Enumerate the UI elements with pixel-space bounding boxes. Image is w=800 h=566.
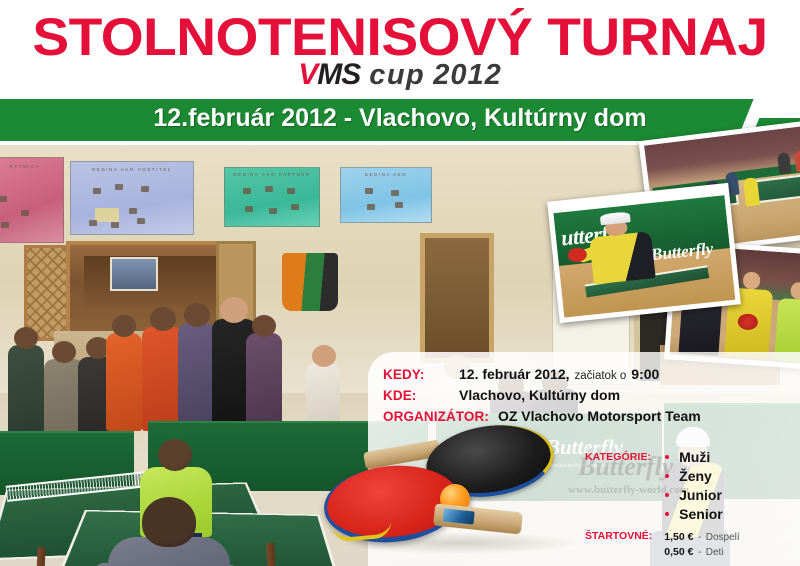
event-info-block: KEDY: 12. február 2012, začiatok o 9:00 …: [383, 366, 701, 429]
value-organizator: OZ Vlachovo Motorsport Team: [498, 408, 701, 424]
list-item: Senior: [665, 506, 723, 522]
fee-line-children: 0,50 € - Deti: [664, 544, 739, 559]
doorway: [420, 233, 494, 363]
person-background: [8, 345, 44, 441]
fee-amount: 0,50 €: [664, 546, 693, 558]
list-item: Muži: [665, 449, 723, 465]
info-row-organizator: ORGANIZÁTOR: OZ Vlachovo Motorsport Team: [383, 408, 701, 424]
label-startovne: ŠTARTOVNÉ:: [585, 529, 652, 542]
value-kedy-start-word: začiatok o: [575, 370, 627, 382]
wall-poster-blue-label: DEDINA AKO HOSTITEĽ: [71, 167, 193, 172]
list-item: Ženy: [665, 468, 723, 484]
inset-photo-player-serving: utterfly Butterfly: [547, 183, 741, 323]
wall-poster-teal: DEDINA AKO PARTNER: [224, 167, 320, 227]
label-organizator: ORGANIZÁTOR:: [383, 409, 489, 424]
player-green-shirt-head: [158, 439, 192, 471]
person-head: [252, 315, 276, 337]
person-head: [14, 327, 38, 349]
logo-year: 2012: [433, 59, 502, 91]
label-kedy: KEDY:: [383, 367, 459, 382]
wall-poster-pink-label: RYTMICA: [0, 164, 63, 169]
category-label: Ženy: [679, 468, 712, 484]
fees-block: ŠTARTOVNÉ: 1,50 € - Dospelí 0,50 € - Det…: [585, 529, 740, 559]
fee-audience: Dospelí: [706, 532, 740, 543]
wall-poster-teal-label: DEDINA AKO PARTNER: [225, 172, 319, 177]
categories-block: KATEGÓRIE: Muži Ženy Junior Senior: [585, 449, 723, 525]
page-title: STOLNOTENISOVÝ TURNAJ: [0, 11, 800, 64]
wall-poster-cyan: DEDINA AKO: [340, 167, 432, 223]
poster-root: STOLNOTENISOVÝ TURNAJ VMScup2012 12.febr…: [0, 0, 800, 566]
label-kategorie: KATEGÓRIE:: [585, 449, 651, 463]
value-kde: Vlachovo, Kultúrny dom: [459, 387, 620, 403]
hanging-clothes: [282, 253, 338, 311]
date-banner: 12.február 2012 - Vlachovo, Kultúrny dom: [0, 98, 800, 141]
wall-poster-pink: RYTMICA: [0, 157, 64, 243]
group-person-right: [774, 281, 800, 363]
inset-player-image: utterfly Butterfly: [553, 188, 736, 317]
bullet-icon: [665, 493, 669, 497]
person-background: [178, 323, 216, 435]
vms-cup-logo: VMScup2012: [0, 60, 800, 90]
category-label: Junior: [679, 487, 722, 503]
info-row-kedy: KEDY: 12. február 2012, začiatok o 9:00: [383, 366, 701, 382]
category-label: Muži: [679, 449, 710, 465]
player-body: [589, 231, 655, 284]
person-head: [112, 315, 136, 337]
fees-lines: 1,50 € - Dospelí 0,50 € - Deti: [664, 529, 739, 559]
person-head: [184, 303, 210, 327]
foreground-player-head: [142, 497, 196, 547]
framed-photo: [110, 257, 158, 291]
logo-word-cup: cup: [369, 59, 425, 91]
red-paddle-handle: [433, 503, 523, 534]
person-head: [312, 345, 336, 367]
poster-header: STOLNOTENISOVÝ TURNAJ VMScup2012: [0, 0, 800, 98]
list-item: Junior: [665, 487, 723, 503]
value-kedy-time: 9:00: [631, 366, 659, 382]
value-kedy-date: 12. február 2012,: [459, 366, 570, 382]
person-head: [790, 281, 800, 300]
label-kde: KDE:: [383, 388, 459, 403]
logo-letter-v: V: [298, 58, 317, 91]
logo-letters-ms: MS: [317, 58, 360, 91]
person-background: [106, 333, 142, 431]
person-head: [150, 307, 176, 331]
info-row-kde: KDE: Vlachovo, Kultúrny dom: [383, 387, 701, 403]
wall-poster-blue: DEDINA AKO HOSTITEĽ: [70, 161, 194, 235]
person-head: [742, 271, 760, 289]
category-label: Senior: [679, 506, 723, 522]
gym-person: [777, 152, 791, 175]
bullet-icon: [665, 512, 669, 516]
wall-poster-cyan-label: DEDINA AKO: [341, 172, 431, 177]
lattice-panel: [24, 245, 70, 341]
bullet-icon: [665, 455, 669, 459]
fee-dash: -: [698, 547, 701, 558]
categories-list: Muži Ženy Junior Senior: [665, 449, 723, 525]
bullet-icon: [665, 474, 669, 478]
fee-amount: 1,50 €: [664, 531, 693, 543]
fee-audience: Deti: [706, 547, 724, 558]
person-head: [220, 297, 248, 323]
date-banner-text: 12.február 2012 - Vlachovo, Kultúrny dom: [0, 104, 800, 133]
person-head: [52, 341, 76, 363]
